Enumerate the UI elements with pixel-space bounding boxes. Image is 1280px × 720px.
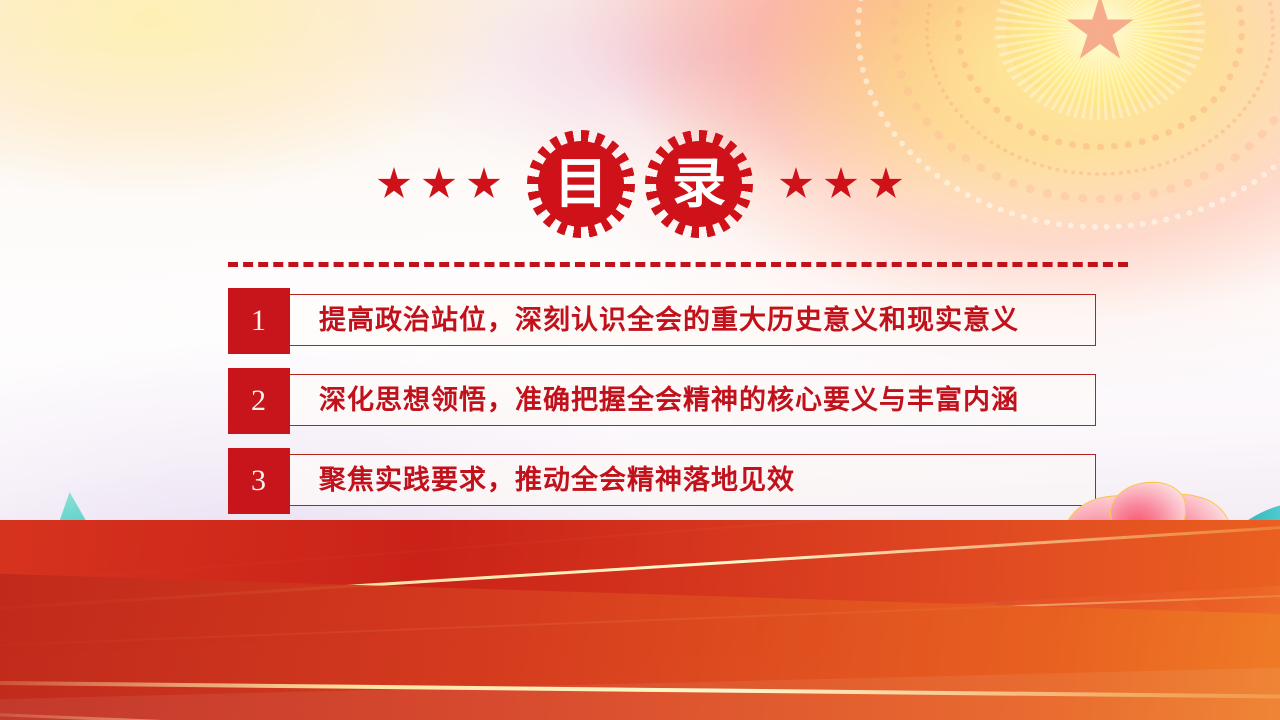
agenda-item-1[interactable]: 1 提高政治站位，深刻认识全会的重大历史意义和现实意义: [228, 294, 1096, 346]
agenda-item-label: 聚焦实践要求，推动全会精神落地见效: [229, 467, 795, 494]
agenda-number-badge: 2: [228, 368, 290, 434]
red-ribbon-icon: [0, 520, 1280, 720]
right-stars-group: [779, 167, 903, 201]
title-char-mu: 目: [554, 157, 608, 211]
star-icon: [824, 167, 858, 201]
star-icon: [377, 167, 411, 201]
gear-badge-lu: 录: [645, 130, 753, 238]
presentation-slide: 目 录 1 提高政治站位，深刻认识全会的重大历史意义和现实意义 2 深化思想: [0, 0, 1280, 720]
agenda-number-badge: 3: [228, 448, 290, 514]
title-char-lu: 录: [672, 157, 726, 211]
agenda-item-3[interactable]: 3 聚焦实践要求，推动全会精神落地见效: [228, 454, 1096, 506]
star-icon: [467, 167, 501, 201]
agenda-item-2[interactable]: 2 深化思想领悟，准确把握全会精神的核心要义与丰富内涵: [228, 374, 1096, 426]
agenda-number-badge: 1: [228, 288, 290, 354]
gear-badge-mu: 目: [527, 130, 635, 238]
agenda-list: 1 提高政治站位，深刻认识全会的重大历史意义和现实意义 2 深化思想领悟，准确把…: [228, 294, 1096, 534]
left-stars-group: [377, 167, 501, 201]
star-icon: [779, 167, 813, 201]
agenda-item-label: 提高政治站位，深刻认识全会的重大历史意义和现实意义: [229, 307, 1019, 334]
star-icon: [869, 167, 903, 201]
title-gear-group: 目 录: [527, 130, 753, 238]
agenda-item-label: 深化思想领悟，准确把握全会精神的核心要义与丰富内涵: [229, 387, 1019, 414]
dashed-divider: [228, 262, 1128, 267]
star-icon: [422, 167, 456, 201]
ceiling-star-icon: [1065, 0, 1135, 65]
slide-title-block: 目 录: [0, 130, 1280, 238]
city-skyline-icon: [420, 528, 840, 658]
peony-flower-icon: [250, 532, 460, 642]
